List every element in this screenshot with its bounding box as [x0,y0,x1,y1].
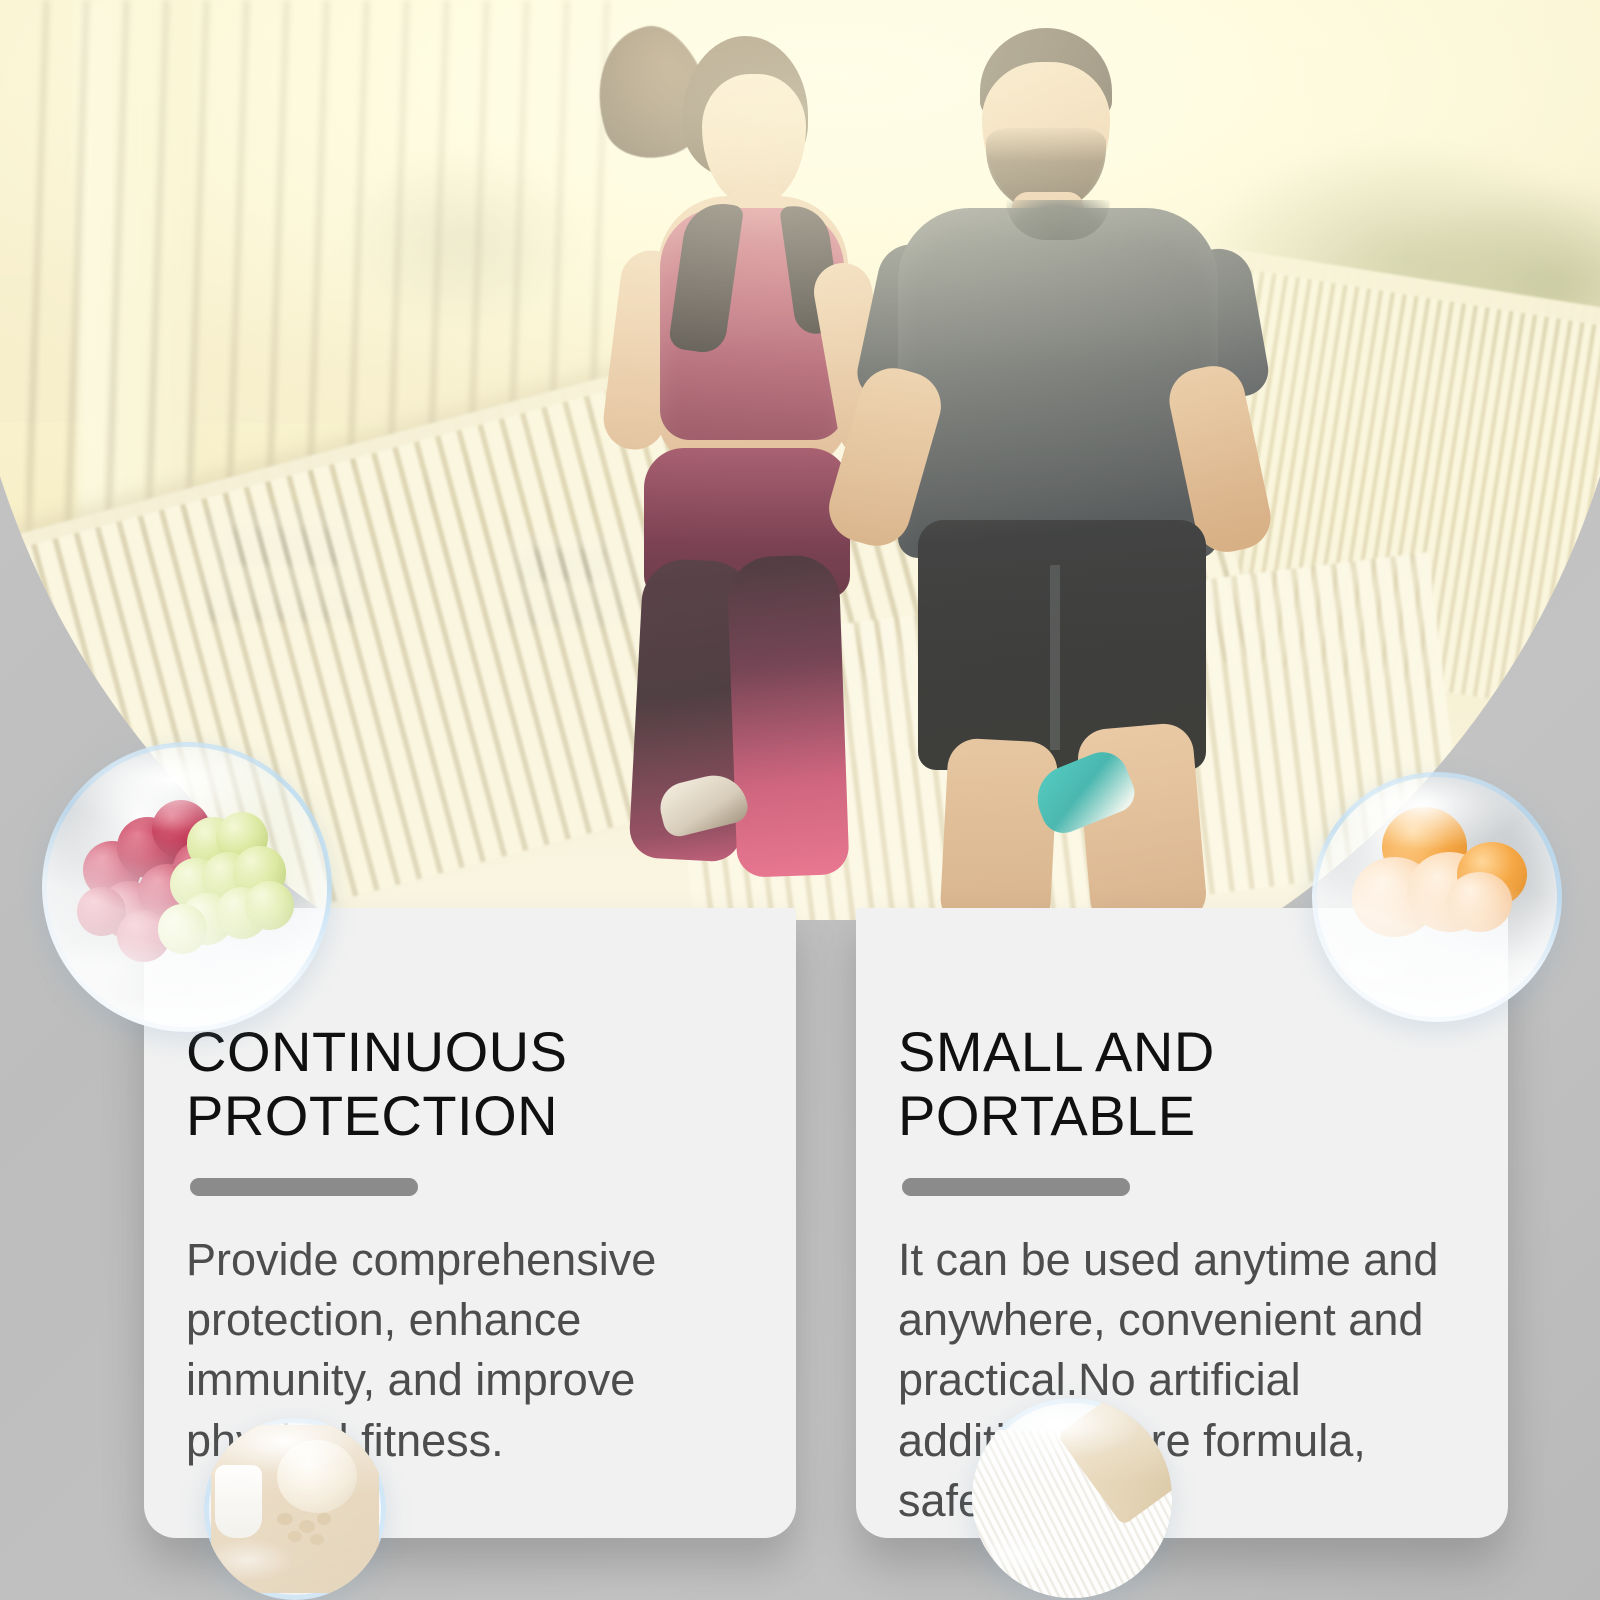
product-feature-poster: CONTINUOUS PROTECTION Provide comprehens… [0,0,1600,1600]
oatmeal-and-milk [204,1418,386,1600]
grapes-bubble [42,742,332,1032]
citrus-bubble [1312,772,1562,1022]
oats-bubble [204,1418,386,1600]
woman-sports-top [660,208,844,440]
card-title: SMALL AND PORTABLE [898,1020,1450,1148]
powder-bubble [972,1398,1172,1598]
man-left-leg [939,737,1059,920]
woman-right-leg [726,554,849,878]
grapes-cluster [42,742,332,1032]
citrus-fruits [1312,772,1562,1022]
man-tshirt [898,208,1218,558]
card-title: CONTINUOUS PROTECTION [186,1020,738,1148]
rice-powder [972,1398,1172,1598]
card-divider-rule [190,1178,418,1196]
card-divider-rule [902,1178,1130,1196]
